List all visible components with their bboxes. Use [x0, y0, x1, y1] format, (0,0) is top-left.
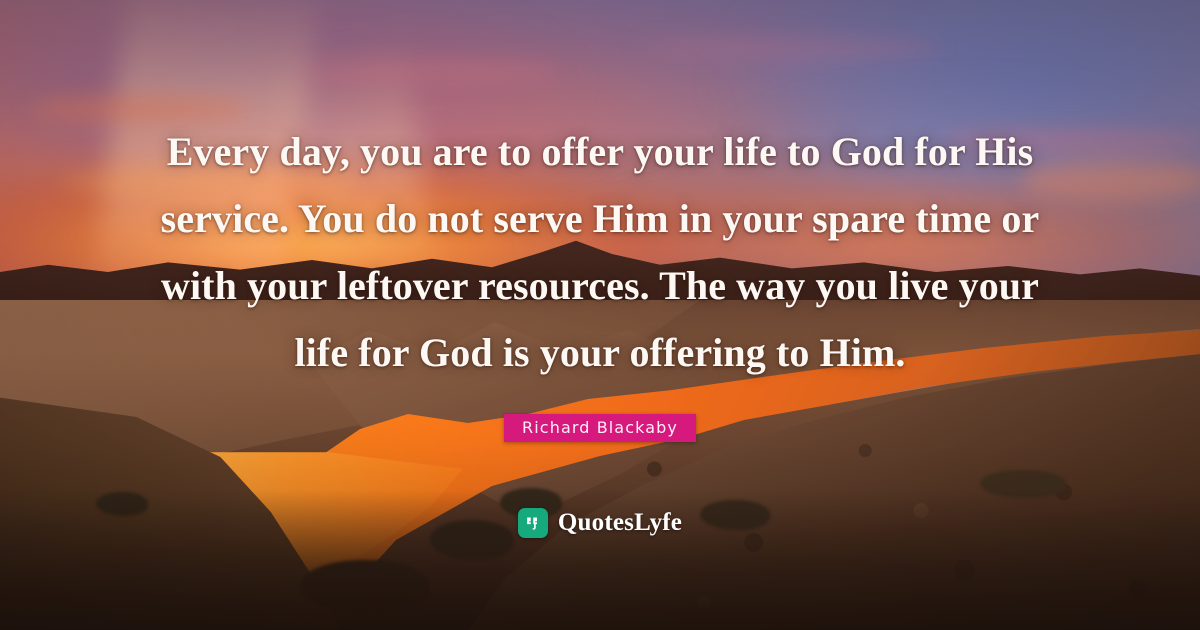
quote-card: Every day, you are to offer your life to…	[0, 0, 1200, 630]
quote-text: Every day, you are to offer your life to…	[150, 118, 1050, 386]
card-content: Every day, you are to offer your life to…	[0, 0, 1200, 630]
quote-mark-icon	[518, 508, 548, 538]
brand-name: QuotesLyfe	[558, 509, 682, 537]
author-badge[interactable]: Richard Blackaby	[504, 414, 696, 442]
brand-logo[interactable]: QuotesLyfe	[518, 508, 682, 538]
